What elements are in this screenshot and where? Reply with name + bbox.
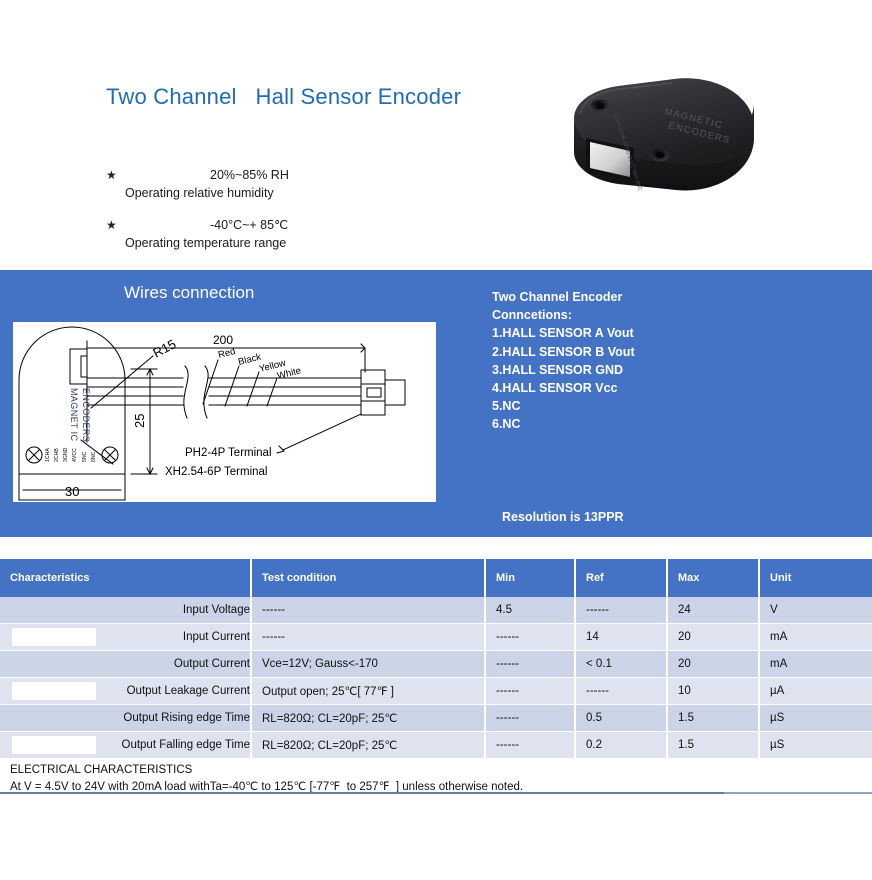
- leader-white: [267, 378, 277, 406]
- spec-value: -40°C~+ 85℃: [210, 218, 288, 232]
- label-terminal-xh254: XH2.54-6P Terminal: [165, 466, 268, 478]
- cell-ref: ------: [575, 597, 667, 624]
- connector-housing-small: [70, 349, 87, 384]
- leader-ph2: [283, 414, 361, 450]
- table-row: Output Falling edge Time RL=820Ω; CL=20p…: [0, 732, 872, 759]
- footer-heading: ELECTRICAL CHARACTERISTICS: [10, 762, 850, 779]
- drawing-pin-label-5: 5NC: [82, 451, 88, 462]
- drawing-brand-line2: ENCODERS: [81, 388, 91, 442]
- drawing-pin-label-2: 2CHB: [54, 448, 60, 462]
- cell-max: 10: [667, 678, 759, 705]
- bottom-divider: [0, 792, 872, 794]
- spec-item-temperature: ★ -40°C~+ 85℃ Operating temperature rang…: [106, 218, 506, 268]
- product-photo: MAGNETIC ENCODERS 1CHA 2CHB 3GND 4VCC 5N…: [556, 56, 774, 196]
- col-ref: Ref: [575, 559, 667, 597]
- star-icon: ★: [106, 168, 117, 182]
- wiring-technical-drawing: R15 MAGNET IC ENCODERS 25 30 200 1CHA 2C…: [13, 322, 436, 502]
- leader-ph2-arrow: [277, 446, 284, 453]
- table-header-row: Characteristics Test condition Min Ref M…: [0, 559, 872, 597]
- cell-characteristic-text: Output Leakage Current: [127, 685, 250, 697]
- redaction-patch: [12, 736, 96, 754]
- table-row: Output Leakage Current Output open; 25℃[…: [0, 678, 872, 705]
- cell-condition: RL=820Ω; CL=20pF; 25℃: [251, 732, 485, 759]
- connection-item-3: 3.HALL SENSOR GND: [492, 361, 635, 379]
- cell-characteristic: Output Current: [0, 651, 251, 678]
- cell-ref: 0.2: [575, 732, 667, 759]
- leader-black: [225, 366, 239, 406]
- resolution-label: Resolution is 13PPR: [502, 510, 624, 524]
- product-photo-svg: MAGNETIC ENCODERS 1CHA 2CHB 3GND 4VCC 5N…: [556, 56, 774, 196]
- cell-ref: ------: [575, 678, 667, 705]
- spec-item-humidity: ★ 20%~85% RH Operating relative humidity: [106, 168, 506, 218]
- cell-characteristic: Output Rising edge Time: [0, 705, 251, 732]
- cell-characteristic-text: Output Falling edge Time: [122, 739, 251, 751]
- star-icon: ★: [106, 218, 117, 232]
- cell-max: 1.5: [667, 705, 759, 732]
- cell-unit: µS: [759, 732, 872, 759]
- label-dim30: 30: [65, 484, 79, 499]
- connections-heading-line1: Two Channel Encoder: [492, 288, 635, 306]
- connection-item-4: 4.HALL SENSOR Vcc: [492, 379, 635, 397]
- connections-block: Two Channel Encoder Conncetions: 1.HALL …: [492, 288, 635, 434]
- col-min: Min: [485, 559, 575, 597]
- label-terminal-ph2: PH2-4P Terminal: [185, 447, 272, 459]
- cell-min: 4.5: [485, 597, 575, 624]
- cell-ref: < 0.1: [575, 651, 667, 678]
- table-row: Input Voltage ------ 4.5 ------ 24 V: [0, 597, 872, 624]
- cable-break-1: [184, 366, 188, 418]
- col-unit: Unit: [759, 559, 872, 597]
- col-max: Max: [667, 559, 759, 597]
- drawing-pin-label-3: 3GND: [63, 447, 69, 462]
- datasheet-page: Two Channel Hall Sensor Encoder ★ 20%~85…: [0, 0, 872, 880]
- redaction-patch: [12, 628, 96, 646]
- drawing-pin-label-4: 4VCC: [72, 448, 78, 462]
- connection-item-1: 1.HALL SENSOR A Vout: [492, 324, 635, 342]
- cell-max: 24: [667, 597, 759, 624]
- cell-ref: 14: [575, 624, 667, 651]
- cell-condition: Output open; 25℃[ 77℉ ]: [251, 678, 485, 705]
- drawing-pin-label-group: 1CHA 2CHB 3GND 4VCC 5NC 6NC: [45, 447, 97, 462]
- redaction-patch: [12, 682, 96, 700]
- label-dim25: 25: [132, 414, 147, 428]
- footer-notes: ELECTRICAL CHARACTERISTICS At V = 4.5V t…: [10, 762, 850, 796]
- leader-yellow: [247, 372, 259, 406]
- col-test-condition: Test condition: [251, 559, 485, 597]
- r15-leader: [91, 356, 153, 408]
- table-row: Input Current ------ ------ 14 20 mA: [0, 624, 872, 651]
- technical-drawing-svg: R15 MAGNET IC ENCODERS 25 30 200 1CHA 2C…: [13, 322, 436, 502]
- spec-label: Operating relative humidity: [125, 186, 274, 200]
- cell-min: ------: [485, 678, 575, 705]
- connection-item-6: 6.NC: [492, 415, 635, 433]
- drawing-pin-label-1: 1CHA: [45, 448, 51, 462]
- drawing-pin-label-6: 6NC: [91, 451, 97, 462]
- cell-min: ------: [485, 705, 575, 732]
- cell-min: ------: [485, 732, 575, 759]
- mounting-hole-left-bore: [595, 103, 604, 109]
- table-row: Output Rising edge Time RL=820Ω; CL=20pF…: [0, 705, 872, 732]
- cell-characteristic: Output Falling edge Time: [0, 732, 251, 759]
- cell-condition: ------: [251, 624, 485, 651]
- cell-characteristic-text: Input Current: [183, 631, 250, 643]
- cell-max: 20: [667, 624, 759, 651]
- table-row: Output Current Vce=12V; Gauss<-170 -----…: [0, 651, 872, 678]
- cell-unit: V: [759, 597, 872, 624]
- cell-ref: 0.5: [575, 705, 667, 732]
- col-characteristics: Characteristics: [0, 559, 251, 597]
- cell-unit: µS: [759, 705, 872, 732]
- connections-heading-line2: Conncetions:: [492, 306, 635, 324]
- cell-min: ------: [485, 651, 575, 678]
- cell-condition: Vce=12V; Gauss<-170: [251, 651, 485, 678]
- label-r15: R15: [150, 336, 178, 360]
- mounting-hole-right-bore: [655, 152, 664, 158]
- spec-value: 20%~85% RH: [210, 168, 289, 182]
- connection-item-2: 2.HALL SENSOR B Vout: [492, 343, 635, 361]
- connector-large-window: [367, 388, 381, 397]
- cell-characteristic: Input Current: [0, 624, 251, 651]
- cell-max: 1.5: [667, 732, 759, 759]
- spec-label: Operating temperature range: [125, 236, 286, 250]
- cell-unit: mA: [759, 624, 872, 651]
- cell-min: ------: [485, 624, 575, 651]
- cell-condition: ------: [251, 597, 485, 624]
- cell-max: 20: [667, 651, 759, 678]
- cell-unit: µA: [759, 678, 872, 705]
- spec-list: ★ 20%~85% RH Operating relative humidity…: [106, 168, 506, 268]
- cell-characteristic: Input Voltage: [0, 597, 251, 624]
- label-dim200: 200: [213, 333, 233, 347]
- connection-item-5: 5.NC: [492, 397, 635, 415]
- electrical-characteristics-table: Characteristics Test condition Min Ref M…: [0, 559, 872, 759]
- page-title: Two Channel Hall Sensor Encoder: [106, 84, 461, 110]
- section-title-wires: Wires connection: [124, 283, 254, 303]
- cell-characteristic: Output Leakage Current: [0, 678, 251, 705]
- cell-unit: mA: [759, 651, 872, 678]
- cell-condition: RL=820Ω; CL=20pF; 25℃: [251, 705, 485, 732]
- drawing-brand-line1: MAGNET IC: [69, 388, 79, 442]
